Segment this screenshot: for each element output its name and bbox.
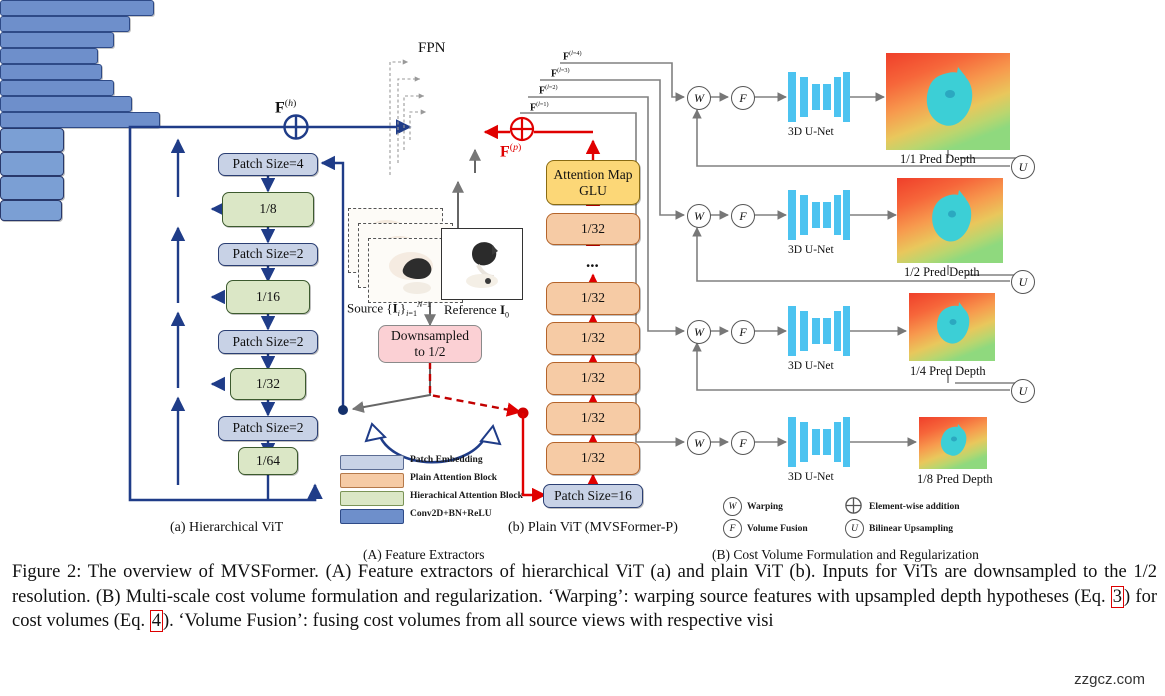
legend-swatch-plain-attention [340,473,404,488]
upsample-node-2: U [1011,270,1035,294]
fusion-node-1: F [731,86,755,110]
hier-patch-block-2: Patch Size=2 [218,243,318,266]
fpn-feature-label-l4: F(l=4) [563,50,582,62]
legend-symbol-warping: W [723,497,742,516]
figure-caption: Figure 2: The overview of MVSFormer. (A)… [12,560,1157,634]
glu-line-2: GLU [579,183,607,199]
fpn-feature-label-l2: F(l=2) [539,84,558,96]
fusion-node-3: F [731,320,755,344]
plain-vit-caption: (b) Plain ViT (MVSFormer-P) [508,520,678,536]
hier-patch-block-3: Patch Size=2 [218,330,318,354]
fpn-feature-label-l1: F(l=1) [530,101,549,113]
f-plain-symbol: F(p) [500,142,521,161]
legend-label-bilinear-upsampling: Bilinear Upsampling [869,524,953,534]
unet-label-1: 3D U-Net [788,126,834,138]
pred-depth-label-4: 1/8 Pred Depth [917,472,993,487]
caption-line-4b: ). ‘Volume Fusion’: fusing cost volumes … [163,611,774,631]
plain-attention-block-3: 1/32 [546,362,640,395]
pred-depth-map-1 [886,53,1010,150]
plain-attention-block-6: 1/32 [546,213,640,245]
legend-label-elementwise-add: Element-wise addition [869,502,960,512]
plain-patch-block: Patch Size=16 [543,484,643,508]
unet-label-3: 3D U-Net [788,360,834,372]
plain-attention-block-5: 1/32 [546,282,640,315]
hier-scale-block-2: 1/16 [226,280,310,314]
unet-label-2: 3D U-Net [788,244,834,256]
caption-eq-ref-4[interactable]: 4 [150,610,163,632]
caption-eq-ref-3[interactable]: 3 [1111,586,1124,608]
caption-line-3a: regularization. ‘Warping’: warping sourc… [435,587,1110,607]
warping-node-1: W [687,86,711,110]
pred-depth-label-3: 1/4 Pred Depth [910,364,986,379]
source-images-label: Source {Ii}i=1N−1 [347,300,431,318]
plain-attention-block-2: 1/32 [546,402,640,435]
downsample-block: Downsampled to 1/2 [378,325,482,363]
unet-label-4: 3D U-Net [788,471,834,483]
glu-line-1: Attention Map [553,167,632,183]
warping-node-3: W [687,320,711,344]
hier-vit-caption: (a) Hierarchical ViT [170,520,283,536]
legend-label-warping: Warping [747,502,783,512]
legend-label-patch-embedding: Patch Embedding [410,455,483,465]
upsample-node-3: U [1011,379,1035,403]
plain-attention-block-1: 1/32 [546,442,640,475]
pred-depth-map-3 [909,293,995,361]
plain-attention-block-4: 1/32 [546,322,640,355]
unet-3 [786,304,850,358]
warping-node-2: W [687,204,711,228]
pred-depth-map-4 [919,417,987,469]
hier-patch-block-4: Patch Size=2 [218,416,318,441]
hier-scale-block-3: 1/32 [230,368,306,400]
unet-2 [786,188,850,242]
hier-patch-block-1: Patch Size=4 [218,153,318,176]
plain-ellipsis: ... [586,252,599,272]
caption-prefix: Figure 2: [12,562,81,582]
legend-label-volume-fusion: Volume Fusion [747,524,808,534]
legend-symbol-elementwise-add [845,497,862,519]
legend-symbol-bilinear-upsampling: U [845,519,864,538]
unet-4 [786,415,850,469]
caption-line-4a: (Eq. [114,611,150,631]
figure-container: FPN F(l=4) F(l=3) F(l=2) F(l=1) F(h) F(p… [0,0,1165,696]
warping-node-4: W [687,431,711,455]
caption-line-1: The overview of MVSFormer. (A) Feature e… [88,562,783,582]
fusion-node-2: F [731,204,755,228]
legend-swatch-hier-attention [340,491,404,506]
watermark: zzgcz.com [1074,671,1145,688]
legend-swatch-patch-embedding [340,455,404,470]
legend-label-conv: Conv2D+BN+ReLU [410,509,492,519]
f-hier-symbol: F(h) [275,98,296,117]
fusion-node-4: F [731,431,755,455]
attention-map-glu-block: Attention Map GLU [546,160,640,205]
legend-label-hier-attention: Hierachical Attention Block [410,491,523,501]
fpn-title: FPN [418,40,446,57]
downsample-line-2: to 1/2 [414,344,445,360]
downsample-line-1: Downsampled [391,328,469,344]
pred-depth-label-1: 1/1 Pred Depth [900,152,976,167]
fpn-feature-label-l3: F(l=3) [551,67,570,79]
pred-depth-label-2: 1/2 Pred Depth [904,265,980,280]
hier-scale-block-4: 1/64 [238,447,298,475]
upsample-node-1: U [1011,155,1035,179]
hier-scale-block-1: 1/8 [222,192,314,227]
reference-image-label: Reference I0 [444,302,509,320]
unet-1 [786,70,850,124]
pred-depth-map-2 [897,178,1003,263]
legend-swatch-conv [340,509,404,524]
reference-image [441,228,523,300]
legend-label-plain-attention: Plain Attention Block [410,473,497,483]
legend-symbol-volume-fusion: F [723,519,742,538]
